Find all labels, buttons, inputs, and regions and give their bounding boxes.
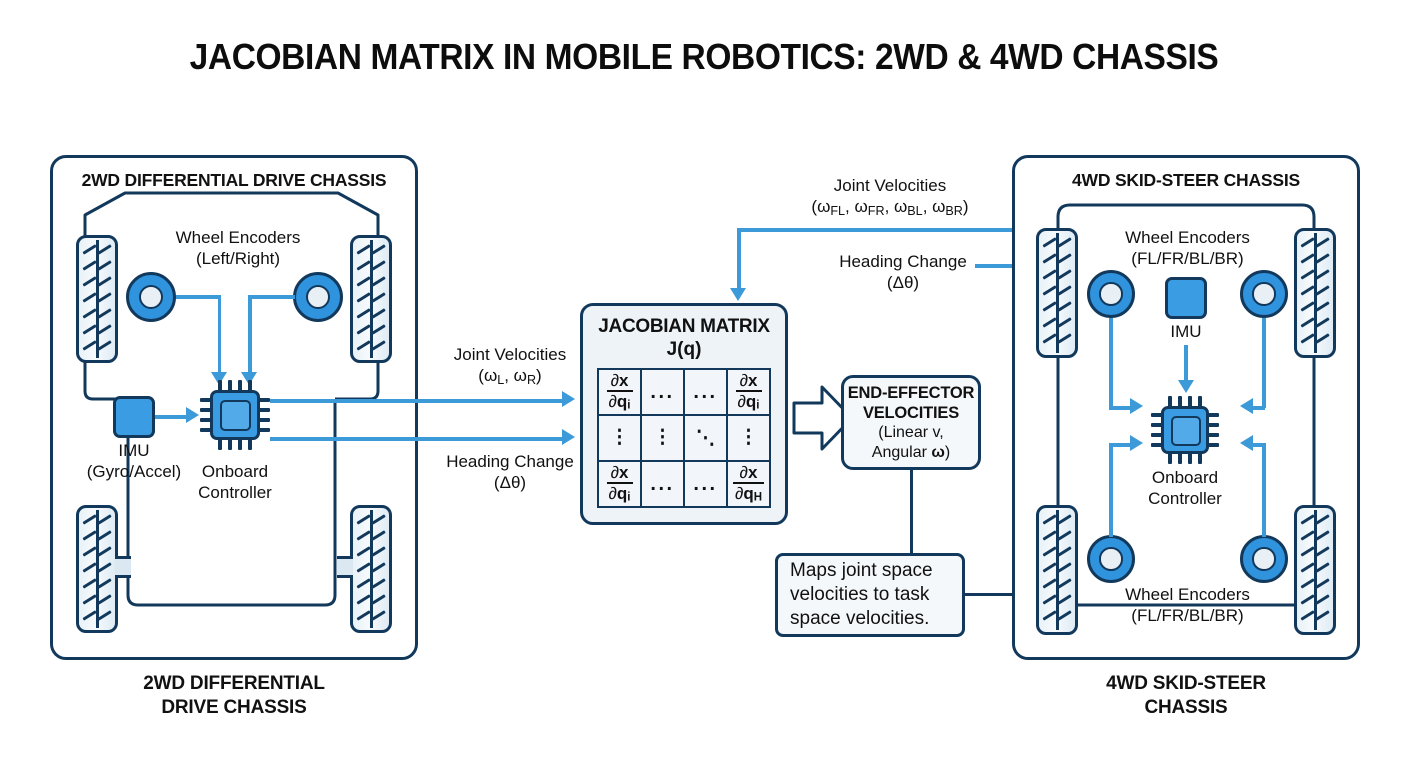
tire-4wd-front-right [1294,228,1336,358]
eef-line4: Angular ω) [872,443,950,463]
imu-4wd [1165,277,1207,319]
link-enc-fr-to-ctrl [1253,406,1265,410]
tire-tread [79,238,115,360]
axle-hub [337,556,353,578]
label-left-joint-velocities: Joint Velocities (ωL, ωR) [420,345,600,388]
link-enc-right-to-ctrl [248,295,252,374]
chip-pin [238,380,242,391]
chip-pin [200,398,211,402]
label-4wd-encoders-top: Wheel Encoders (FL/FR/BL/BR) [1105,228,1270,269]
jacobian-matrix-box: JACOBIAN MATRIX J(q) ∂x∂qi ... ... ∂x∂qi… [580,303,788,525]
encoder-top-line2: (FL/FR/BL/BR) [1131,249,1243,268]
matrix-cell: ... [685,462,726,506]
caption-line2: CHASSIS [1144,697,1227,718]
rjv-line2: (ωFL, ωFR, ωBL, ωBR) [811,197,968,216]
controller-label-line1: Onboard [202,462,268,481]
imu-label-line1: IMU [118,441,149,460]
rhc-line1: Heading Change [839,252,967,271]
chip-pin [1178,453,1182,464]
tire-tread [353,238,389,360]
label-right-joint-velocities: Joint Velocities (ωFL, ωFR, ωBL, ωBR) [775,176,1005,219]
encoder-label-line1: Wheel Encoders [176,228,301,247]
chip-core [210,390,260,440]
arrowhead-right [562,391,575,407]
arrowhead-right [1130,435,1143,451]
hc-line1: Heading Change [446,452,574,471]
chip-pin [248,380,252,391]
controller-label-line2: Controller [1148,489,1222,508]
link-imu-to-ctrl [155,415,187,419]
arrowhead-left [1240,398,1253,414]
label-4wd-encoders-bottom: Wheel Encoders (FL/FR/BL/BR) [1105,585,1270,626]
jacobian-symbol: J(q) [583,339,785,361]
link-enc-fl-to-ctrl [1109,318,1113,408]
flow-right-joint-velocities [737,228,741,290]
note-text: Maps joint space velocities to task spac… [790,559,933,632]
chip-pin [228,380,232,391]
chip-pin [218,380,222,391]
tire-2wd-rear-left [76,505,118,633]
chip-pin [1208,433,1219,437]
page-title: JACOBIAN MATRIX IN MOBILE ROBOTICS: 2WD … [49,36,1358,78]
matrix-cell: ⋮ [599,416,640,460]
chip-pin [200,418,211,422]
encoder-4wd-front-left [1087,270,1135,318]
tire-4wd-rear-left [1036,505,1078,635]
controller-2wd [200,380,270,450]
chip-pin [238,439,242,450]
encoder-2wd-right [293,272,343,322]
chip-core [1161,406,1210,455]
label-4wd-controller: Onboard Controller [1125,468,1245,509]
note-line1: Maps joint space [790,560,933,581]
chip-pin [259,418,270,422]
matrix-cell: ∂x∂qi [599,370,640,414]
tire-2wd-front-left [76,235,118,363]
arrowhead-down [1178,380,1194,393]
label-left-heading-change: Heading Change (Δθ) [420,452,600,493]
link-enc-bl-to-ctrl [1109,443,1131,447]
imu-label-line2: (Gyro/Accel) [87,462,181,481]
diagram-canvas: JACOBIAN MATRIX IN MOBILE ROBOTICS: 2WD … [0,0,1408,768]
chip-pin [1208,443,1219,447]
tire-tread [1039,508,1075,632]
encoder-label-line2: (Left/Right) [196,249,280,268]
caption-line1: 4WD SKID-STEER [1106,673,1266,694]
caption-line1: 2WD DIFFERENTIAL [143,673,325,694]
tire-4wd-rear-right [1294,505,1336,635]
chip-pin [200,428,211,432]
chip-pin [259,428,270,432]
caption-2wd: 2WD DIFFERENTIAL DRIVE CHASSIS [50,672,418,721]
chip-pin [218,439,222,450]
chip-pin [248,439,252,450]
caption-4wd: 4WD SKID-STEER CHASSIS [1012,672,1360,721]
chip-pin [1178,396,1182,407]
note-line3: space velocities. [790,608,929,629]
encoder-2wd-left [126,272,176,322]
flow-right-joint-velocities [737,228,1013,232]
flow-left-heading-change [270,437,566,441]
matrix-cell: ∂x∂qH [728,462,769,506]
chip-pin [1208,423,1219,427]
link-enc-br-to-ctrl [1253,443,1265,447]
label-2wd-wheel-encoders: Wheel Encoders (Left/Right) [158,228,318,269]
encoder-top-line1: Wheel Encoders [1125,228,1250,247]
controller-label-line1: Onboard [1152,468,1218,487]
label-right-heading-change: Heading Change (Δθ) [823,252,983,293]
encoder-4wd-front-right [1240,270,1288,318]
connector-eef-to-note [910,470,913,553]
matrix-cell: ∂x∂qi [728,370,769,414]
tire-2wd-rear-right [350,505,392,633]
link-enc-fl-to-ctrl [1109,406,1131,410]
matrix-cell: ... [685,370,726,414]
chip-pin [1188,453,1192,464]
jv-line2: (ωL, ωR) [478,366,541,385]
matrix-cell: ⋮ [642,416,683,460]
tire-tread [79,508,115,630]
chip-pin [1188,396,1192,407]
rjv-line1: Joint Velocities [834,176,946,195]
label-2wd-controller: Onboard Controller [175,462,295,503]
chip-pin [1168,396,1172,407]
note-box: Maps joint space velocities to task spac… [775,553,965,637]
flow-left-joint-velocities [270,399,566,403]
chip-pin [259,408,270,412]
end-effector-velocities-box: END-EFFECTOR VELOCITIES (Linear v, Angul… [841,375,981,470]
imu-label: IMU [1170,322,1201,341]
matrix-cell: ... [642,462,683,506]
caption-line2: DRIVE CHASSIS [161,697,306,718]
imu-2wd [113,396,155,438]
flow-right-heading-change [975,264,1013,268]
matrix-cell: ∂x∂qi [599,462,640,506]
link-enc-bl-to-ctrl [1109,443,1113,537]
chip-pin [1151,423,1162,427]
chip-pin [1208,413,1219,417]
encoder-4wd-rear-left [1087,535,1135,583]
tire-tread [1297,508,1333,632]
jacobian-grid: ∂x∂qi ... ... ∂x∂qi ⋮ ⋮ ⋱ ⋮ ∂x∂qi ... ..… [597,368,771,508]
rhc-line2: (Δθ) [887,273,919,292]
tire-tread [1297,231,1333,355]
link-enc-left-to-ctrl [218,295,222,374]
eef-line3: (Linear v, [878,423,944,443]
chip-pin [1151,413,1162,417]
hc-line2: (Δθ) [494,473,526,492]
chip-pin [1151,433,1162,437]
eef-line1: END-EFFECTOR [848,383,975,403]
tire-tread [353,508,389,630]
link-enc-right-to-ctrl [248,295,295,299]
encoder-bottom-line2: (FL/FR/BL/BR) [1131,606,1243,625]
jacobian-title: JACOBIAN MATRIX [583,316,785,338]
controller-label-line2: Controller [198,483,272,502]
arrowhead-right [186,407,199,423]
tire-tread [1039,231,1075,355]
matrix-cell: ⋮ [728,416,769,460]
chip-pin [200,408,211,412]
chip-pin [259,398,270,402]
matrix-cell: ⋱ [685,416,726,460]
link-imu4wd-to-ctrl [1184,345,1188,382]
arrowhead-right [562,429,575,445]
link-enc-left-to-ctrl [176,295,221,299]
chip-pin [1198,453,1202,464]
note-line2: velocities to task [790,584,929,605]
label-4wd-imu: IMU [1146,322,1226,343]
eef-line2: VELOCITIES [863,403,959,423]
tire-4wd-front-left [1036,228,1078,358]
arrowhead-down [730,288,746,301]
tire-2wd-front-right [350,235,392,363]
axle-hub [115,556,131,578]
connector-note-to-4wd [965,593,1012,596]
link-enc-fr-to-ctrl [1262,318,1266,408]
arrowhead-right [1130,398,1143,414]
chip-pin [1151,443,1162,447]
chip-pin [228,439,232,450]
encoder-4wd-rear-right [1240,535,1288,583]
jv-line1: Joint Velocities [454,345,566,364]
encoder-bottom-line1: Wheel Encoders [1125,585,1250,604]
arrowhead-left [1240,435,1253,451]
chip-pin [1198,396,1202,407]
chip-pin [1168,453,1172,464]
matrix-cell: ... [642,370,683,414]
link-enc-br-to-ctrl [1262,443,1266,537]
controller-4wd [1151,396,1219,464]
